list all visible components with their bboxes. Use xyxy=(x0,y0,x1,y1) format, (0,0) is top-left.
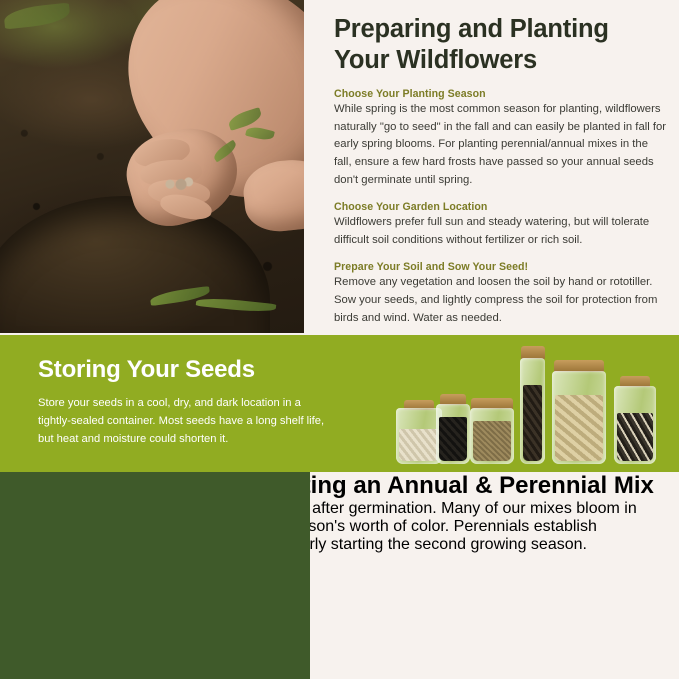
glass-body xyxy=(614,386,656,464)
storing-text-column: Storing Your Seeds Store your seeds in a… xyxy=(38,357,338,448)
seed-fill xyxy=(439,417,467,461)
body-planting-season: While spring is the most common season f… xyxy=(334,101,668,189)
seed-jar xyxy=(520,346,545,464)
hand-sowing-seeds-in-soil-photo xyxy=(0,0,304,333)
preparing-text-column: Preparing and Planting Your Wildflowers … xyxy=(330,0,679,335)
seed-jar xyxy=(470,398,514,464)
seed-storage-jars-photo xyxy=(392,335,679,472)
glass-body xyxy=(520,358,545,464)
body-garden-location: Wildflowers prefer full sun and steady w… xyxy=(334,214,668,249)
seed-fill xyxy=(473,421,511,461)
subheading-garden-location: Choose Your Garden Location xyxy=(334,201,669,213)
section-what-to-expect: What to Expect When Planting an Annual &… xyxy=(0,472,679,679)
seed-fill xyxy=(617,413,653,461)
glass-body xyxy=(470,408,514,464)
glass-body xyxy=(552,371,606,464)
body-prepare-soil: Remove any vegetation and loosen the soi… xyxy=(334,274,668,327)
seed-fill xyxy=(399,429,439,461)
seed-jar xyxy=(436,394,470,464)
foliage-background xyxy=(0,472,310,679)
seed-fill xyxy=(523,385,542,461)
storing-body: Store your seeds in a cool, dry, and dar… xyxy=(38,395,328,448)
subheading-planting-season: Choose Your Planting Season xyxy=(334,88,669,100)
infographic-page: Preparing and Planting Your Wildflowers … xyxy=(0,0,679,679)
wildflower-meadow-coreopsis-photo xyxy=(0,472,310,679)
seed-jar xyxy=(552,360,606,464)
glass-body xyxy=(436,404,470,464)
section-preparing-and-planting: Preparing and Planting Your Wildflowers … xyxy=(0,0,679,335)
seed-fill xyxy=(555,395,603,461)
page-title: Preparing and Planting Your Wildflowers xyxy=(334,14,669,76)
storing-heading: Storing Your Seeds xyxy=(38,357,338,383)
seed-jar xyxy=(614,376,656,464)
subheading-prepare-soil: Prepare Your Soil and Sow Your Seed! xyxy=(334,261,669,273)
section-storing-your-seeds: Storing Your Seeds Store your seeds in a… xyxy=(0,335,679,472)
